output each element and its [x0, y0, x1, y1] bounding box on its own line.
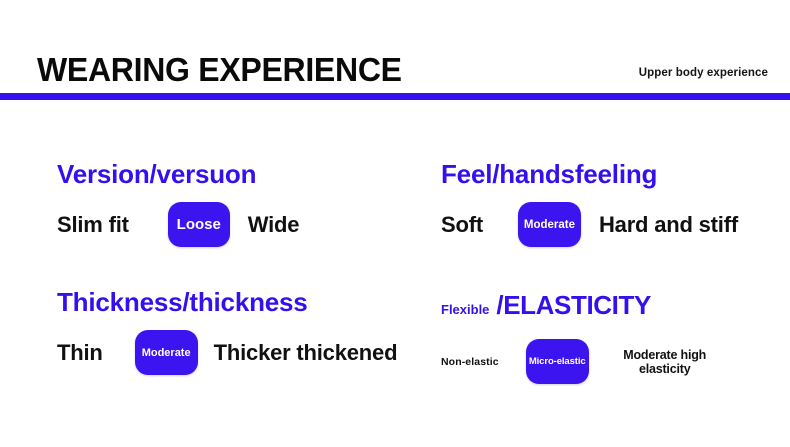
scale-left-label-thickness: Thin [57, 340, 103, 366]
scale-left-label-feel: Soft [441, 212, 483, 238]
section-title-version: Version/versuon [57, 158, 299, 190]
scale-row-feel: Soft Moderate Hard and stiff [441, 202, 738, 247]
scale-selected-pill-version[interactable]: Loose [168, 202, 230, 247]
scale-right-label-thickness: Thicker thickened [214, 340, 398, 366]
scale-selected-pill-feel[interactable]: Moderate [518, 202, 581, 247]
slide-canvas: WEARING EXPERIENCE Upper body experience… [0, 0, 790, 447]
scale-row-elasticity: Non-elastic Micro-elastic Moderate high … [441, 339, 719, 384]
header-subtitle: Upper body experience [639, 67, 768, 79]
scale-row-thickness: Thin Moderate Thicker thickened [57, 330, 397, 375]
header-divider-rule [0, 93, 790, 100]
section-thickness: Thickness/thickness Thin Moderate Thicke… [57, 286, 397, 375]
section-elasticity: Flexible /ELASTICITY Non-elastic Micro-e… [441, 290, 719, 384]
scale-row-version: Slim fit Loose Wide [57, 202, 299, 247]
section-feel: Feel/handsfeeling Soft Moderate Hard and… [441, 158, 738, 247]
section-title-elasticity: Flexible /ELASTICITY [441, 290, 719, 321]
scale-selected-pill-elasticity[interactable]: Micro-elastic [526, 339, 589, 384]
section-version: Version/versuon Slim fit Loose Wide [57, 158, 299, 247]
page-title: WEARING EXPERIENCE [37, 50, 402, 90]
scale-left-label-version: Slim fit [57, 212, 129, 238]
scale-left-label-elasticity: Non-elastic [441, 356, 499, 368]
scale-right-label-feel: Hard and stiff [599, 212, 738, 238]
scale-right-label-elasticity: Moderate high elasticity [611, 348, 719, 376]
section-title-elasticity-main: /ELASTICITY [496, 290, 651, 321]
section-title-elasticity-prefix: Flexible [441, 302, 489, 317]
scale-right-label-version: Wide [248, 212, 300, 238]
section-title-feel: Feel/handsfeeling [441, 158, 738, 190]
section-title-thickness: Thickness/thickness [57, 286, 397, 318]
scale-selected-pill-thickness[interactable]: Moderate [135, 330, 198, 375]
